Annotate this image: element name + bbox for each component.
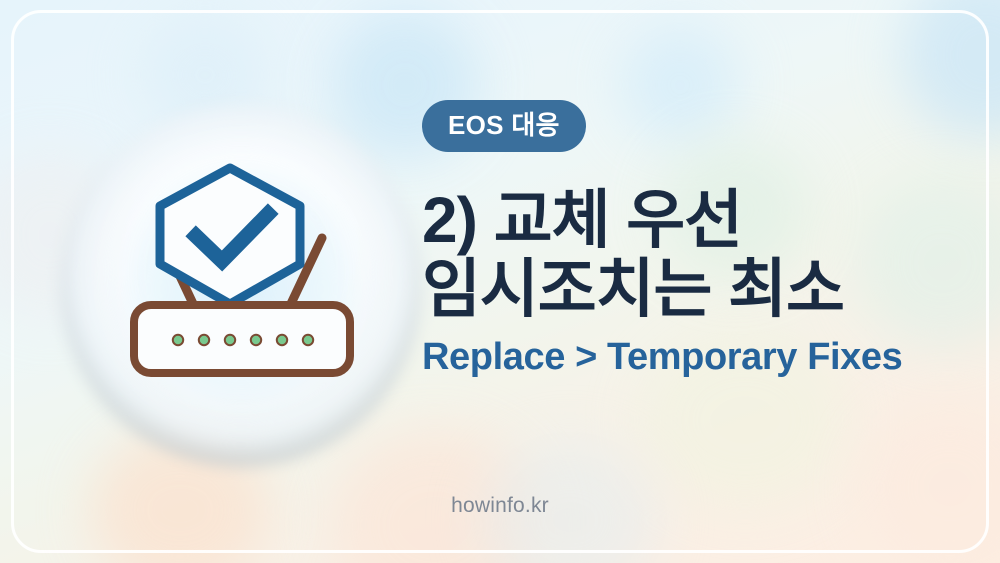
decorative-blob [0, 150, 130, 320]
router-led-icon [303, 335, 313, 345]
headline-line-2: 임시조치는 최소 [422, 255, 962, 324]
router-led-icon [251, 335, 261, 345]
promo-card: EOS 대응 2) 교체 우선 임시조치는 최소 Replace > Tempo… [0, 0, 1000, 563]
footer: howinfo.kr [0, 494, 1000, 518]
subtitle: Replace > Temporary Fixes [422, 336, 962, 379]
router-with-shield-icon [118, 150, 366, 390]
router-led-icon [225, 335, 235, 345]
router-led-icon [173, 335, 183, 345]
text-content: EOS 대응 2) 교체 우선 임시조치는 최소 Replace > Tempo… [422, 100, 962, 379]
router-led-icon [277, 335, 287, 345]
eos-badge: EOS 대응 [422, 100, 586, 152]
router-body-icon [134, 305, 350, 373]
decorative-blob [140, 15, 270, 135]
decorative-blob [860, 400, 1000, 563]
router-security-illustration [118, 150, 366, 390]
headline-line-1: 2) 교체 우선 [422, 186, 962, 255]
site-name: howinfo.kr [451, 494, 549, 518]
router-led-icon [199, 335, 209, 345]
page-title: 2) 교체 우선 임시조치는 최소 [422, 186, 962, 324]
